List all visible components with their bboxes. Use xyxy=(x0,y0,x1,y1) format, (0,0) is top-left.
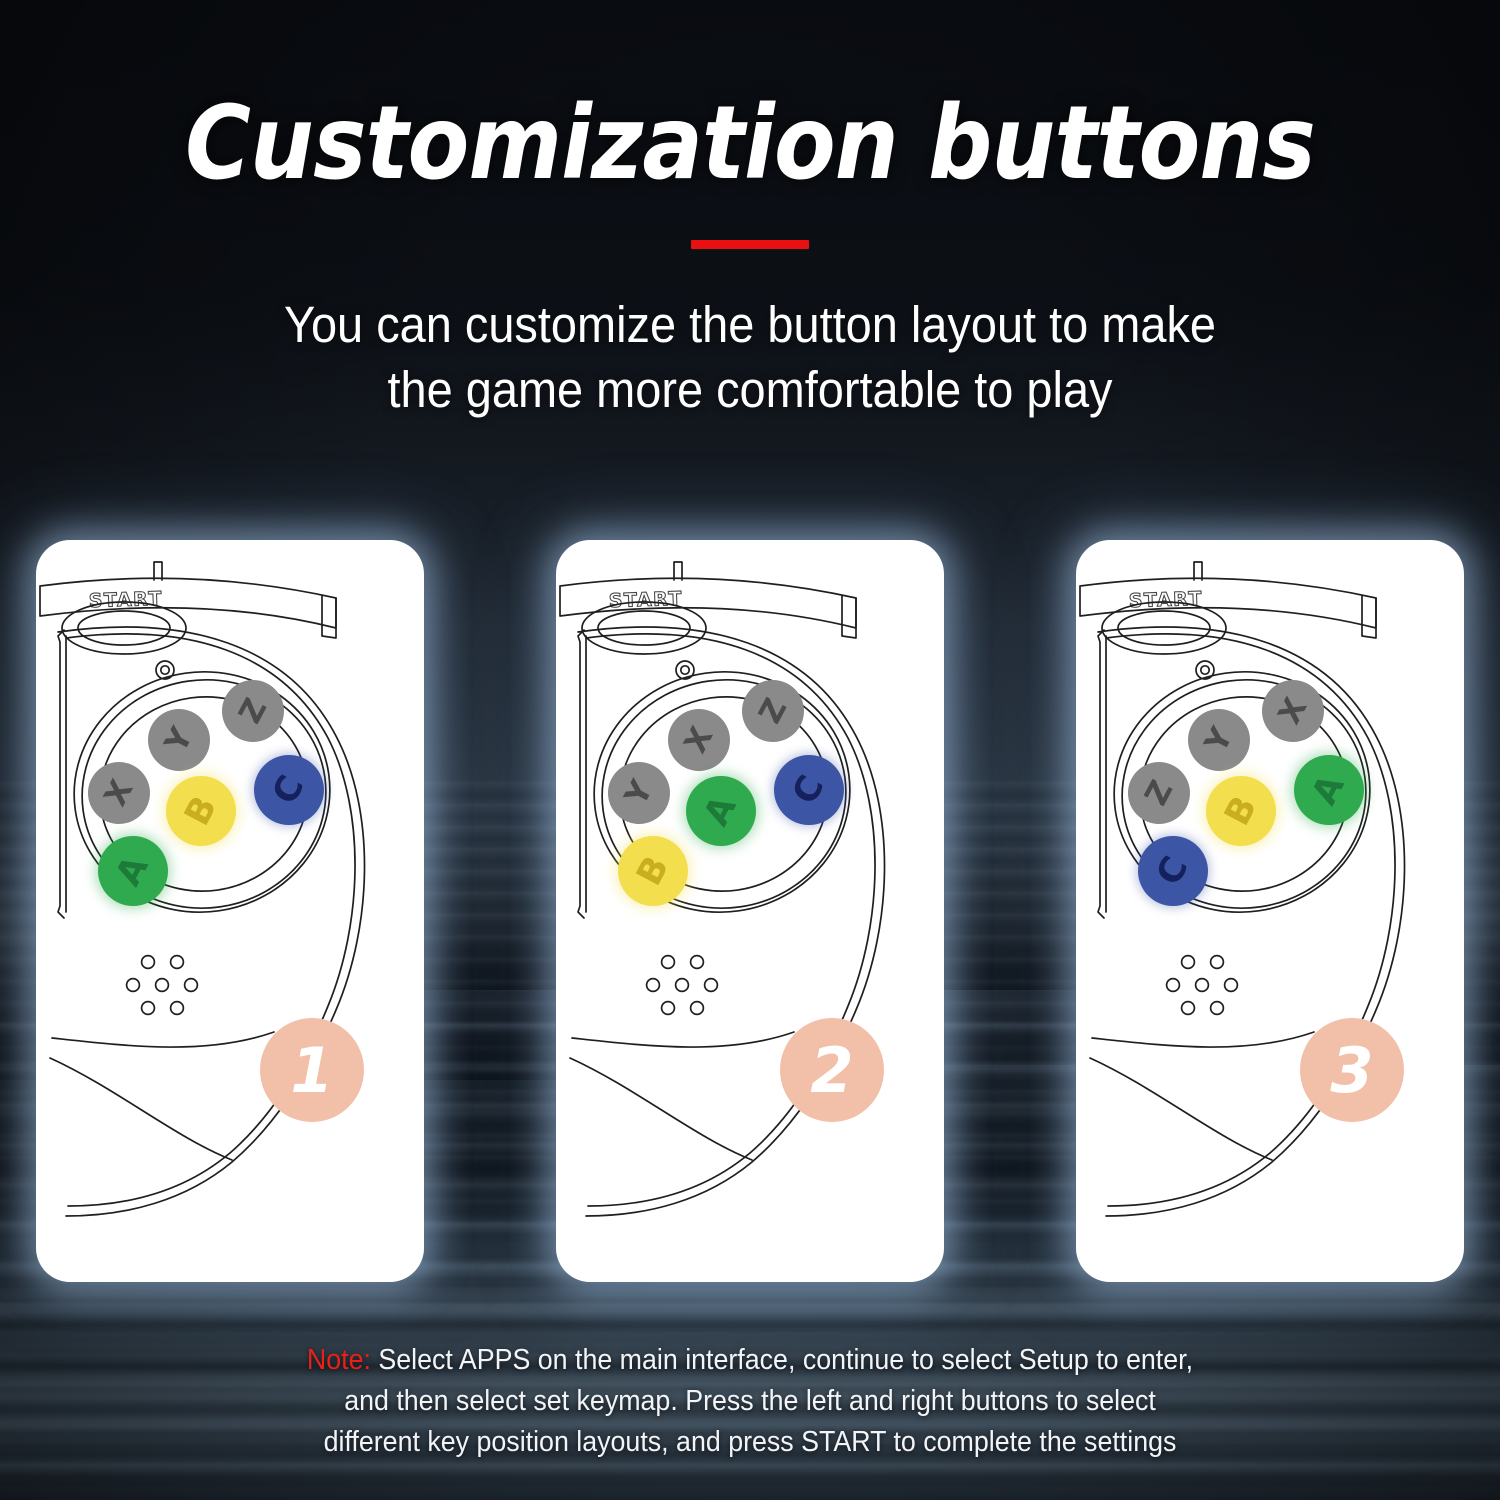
pad-button-label: C xyxy=(1149,850,1196,891)
pad-button-y[interactable]: Y xyxy=(608,762,670,824)
start-label: START xyxy=(1128,588,1203,613)
page-subtitle: You can customize the button layout to m… xyxy=(60,292,1440,423)
pad-button-label: Z xyxy=(232,693,274,730)
pad-button-c[interactable]: C xyxy=(774,755,844,825)
pad-button-label: C xyxy=(785,769,832,810)
divider-wrapper xyxy=(0,236,1500,254)
pad-button-c[interactable]: C xyxy=(1138,836,1208,906)
pad-button-z[interactable]: Z xyxy=(1128,762,1190,824)
pad-button-x[interactable]: X xyxy=(88,762,150,824)
pad-button-label: C xyxy=(265,769,312,810)
pad-button-z[interactable]: Z xyxy=(742,680,804,742)
pad-button-a[interactable]: A xyxy=(686,776,756,846)
pad-button-y[interactable]: Y xyxy=(1188,709,1250,771)
pad-button-b[interactable]: B xyxy=(1206,776,1276,846)
note-label: Note: xyxy=(307,1344,371,1376)
note-line-1: Note: Select APPS on the main interface,… xyxy=(45,1340,1455,1381)
subtitle-line-2: the game more comfortable to play xyxy=(60,357,1440,422)
pad-button-label: A xyxy=(1305,769,1353,812)
controller-line-art: START xyxy=(36,540,424,1282)
card-number-badge: 2 xyxy=(780,1018,884,1122)
layout-card-row: START ZYXBCA1 xyxy=(0,540,1500,1282)
pad-button-label: Z xyxy=(1138,775,1180,812)
promo-page: Customization buttons You can customize … xyxy=(0,0,1500,1500)
note-line-2: and then select set keymap. Press the le… xyxy=(45,1381,1455,1422)
header: Customization buttons You can customize … xyxy=(0,0,1500,423)
page-title: Customization buttons xyxy=(90,92,1410,196)
pad-button-label: Y xyxy=(1198,722,1240,759)
card-number-badge: 1 xyxy=(260,1018,364,1122)
pad-button-z[interactable]: Z xyxy=(222,680,284,742)
note-line-3: different key position layouts, and pres… xyxy=(45,1422,1455,1463)
layout-card[interactable]: START ZXYACB2 xyxy=(556,540,944,1282)
controller-line-art: START xyxy=(556,540,944,1282)
pad-button-label: A xyxy=(697,790,745,833)
accent-divider xyxy=(691,240,809,249)
start-label: START xyxy=(88,588,163,613)
layout-card[interactable]: START XYZBAC3 xyxy=(1076,540,1464,1282)
pad-button-label: B xyxy=(629,850,677,892)
pad-button-b[interactable]: B xyxy=(618,836,688,906)
note-line-1-text: Select APPS on the main interface, conti… xyxy=(371,1344,1193,1376)
pad-button-c[interactable]: C xyxy=(254,755,324,825)
pad-button-label: X xyxy=(97,774,140,812)
controller-line-art: START xyxy=(1076,540,1464,1282)
pad-button-label: Y xyxy=(618,775,660,812)
pad-button-label: Z xyxy=(752,693,794,730)
note-block: Note: Select APPS on the main interface,… xyxy=(45,1340,1455,1463)
subtitle-line-1: You can customize the button layout to m… xyxy=(60,292,1440,357)
card-number-badge: 3 xyxy=(1300,1018,1404,1122)
pad-button-x[interactable]: X xyxy=(668,709,730,771)
pad-button-label: B xyxy=(1217,790,1265,832)
pad-button-label: X xyxy=(677,721,720,759)
pad-button-x[interactable]: X xyxy=(1262,680,1324,742)
layout-card[interactable]: START ZYXBCA1 xyxy=(36,540,424,1282)
pad-button-label: X xyxy=(1271,692,1314,730)
pad-button-y[interactable]: Y xyxy=(148,709,210,771)
pad-button-b[interactable]: B xyxy=(166,776,236,846)
pad-button-a[interactable]: A xyxy=(98,836,168,906)
pad-button-label: A xyxy=(109,850,157,893)
pad-button-a[interactable]: A xyxy=(1294,755,1364,825)
pad-button-label: B xyxy=(177,790,225,832)
pad-button-label: Y xyxy=(158,722,200,759)
start-label: START xyxy=(608,588,683,613)
